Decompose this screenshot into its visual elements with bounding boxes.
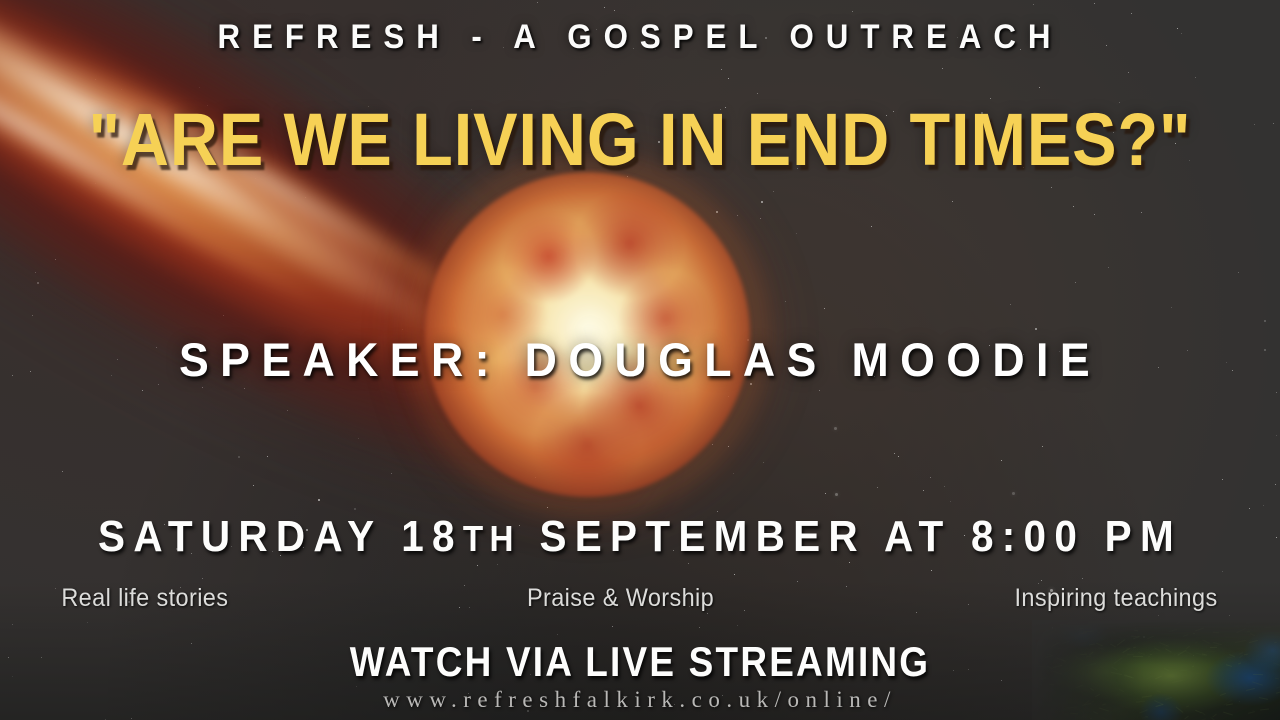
poster-canvas: REFRESH - A GOSPEL OUTREACH "ARE WE LIVI…	[0, 0, 1280, 720]
poster-content: REFRESH - A GOSPEL OUTREACH "ARE WE LIVI…	[0, 0, 1280, 720]
event-datetime: SATURDAY 18TH SEPTEMBER AT 8:00 PM	[51, 512, 1229, 562]
date-main: SATURDAY 18	[98, 512, 463, 561]
date-rest: SEPTEMBER AT 8:00 PM	[520, 512, 1182, 561]
event-kicker: REFRESH - A GOSPEL OUTREACH	[51, 18, 1229, 57]
poster-headline: "ARE WE LIVING IN END TIMES?"	[64, 97, 1216, 182]
feature-item-3: Inspiring teachings	[1014, 584, 1217, 613]
feature-list: Real life stories Praise & Worship Inspi…	[0, 584, 1280, 613]
feature-item-1: Real life stories	[61, 584, 228, 613]
feature-item-2: Praise & Worship	[527, 584, 714, 613]
date-ordinal-suffix: TH	[463, 518, 520, 559]
stream-url[interactable]: www.refreshfalkirk.co.uk/online/	[0, 687, 1280, 713]
speaker-line: SPEAKER: DOUGLAS MOODIE	[32, 332, 1248, 387]
call-to-action: WATCH VIA LIVE STREAMING	[77, 638, 1203, 686]
